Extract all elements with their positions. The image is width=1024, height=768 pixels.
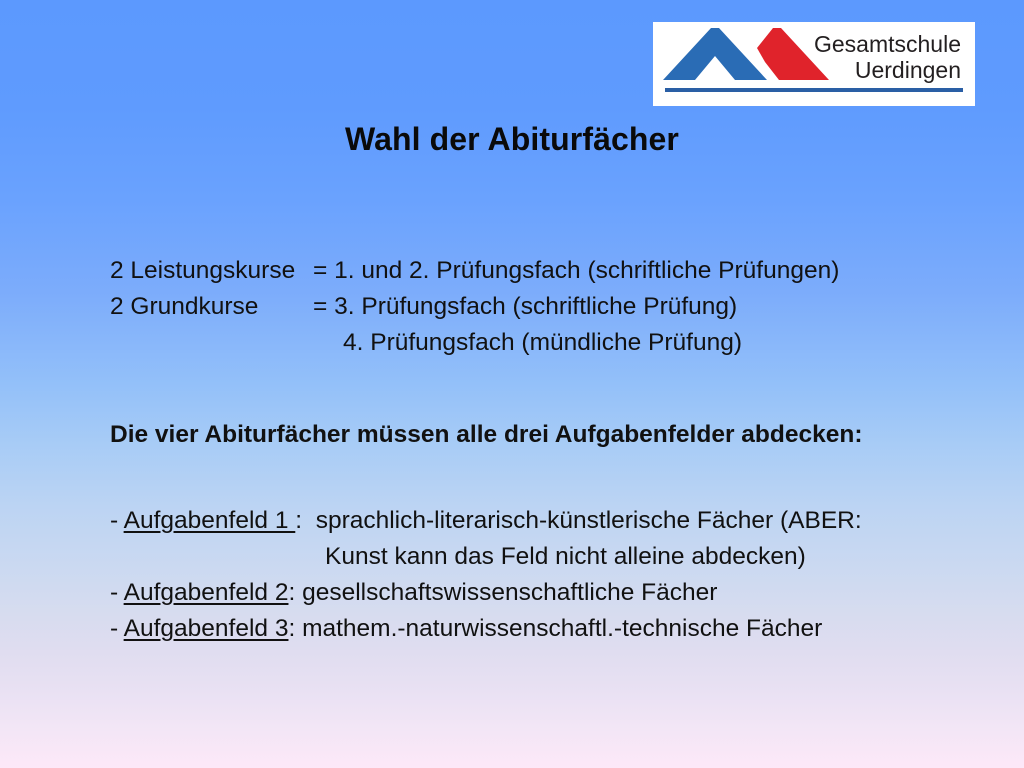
logo-wordmark: Gesamtschule Uerdingen — [814, 31, 961, 83]
course-row-right: = 3. Prüfungsfach (schriftliche Prüfung) — [313, 289, 970, 325]
requirement-statement: Die vier Abiturfächer müssen alle drei A… — [110, 417, 970, 453]
course-row-left: 2 Leistungskurse — [110, 253, 313, 289]
course-extra-row: 4. Prüfungsfach (mündliche Prüfung) — [110, 325, 970, 361]
aufgabenfeld-label: Aufgabenfeld 1 — [124, 507, 296, 534]
aufgabenfeld-separator: : — [295, 507, 315, 534]
aufgabenfeld-description: mathem.-naturwissenschaftl.-technische F… — [302, 615, 822, 642]
course-extra-text: 4. Prüfungsfach (mündliche Prüfung) — [343, 325, 742, 361]
logo-inner: Gesamtschule Uerdingen — [653, 22, 975, 106]
body-spacer — [110, 361, 970, 417]
course-row: 2 Grundkurse = 3. Prüfungsfach (schriftl… — [110, 289, 970, 325]
logo-wordmark-line2: Uerdingen — [814, 57, 961, 83]
requirement-colon: : — [854, 421, 862, 448]
aufgabenfeld-label: Aufgabenfeld 2 — [124, 579, 289, 606]
course-row-left: 2 Grundkurse — [110, 289, 313, 325]
slide-title: Wahl der Abiturfächer — [0, 121, 1024, 158]
aufgabenfeld-description: gesellschaftswissenschaftliche Fächer — [302, 579, 717, 606]
body-spacer — [110, 453, 970, 503]
bullet-dash: - — [110, 507, 124, 534]
course-row-right: = 1. und 2. Prüfungsfach (schriftliche P… — [313, 253, 970, 289]
aufgabenfeld-label: Aufgabenfeld 3 — [124, 615, 289, 642]
slide-body: 2 Leistungskurse = 1. und 2. Prüfungsfac… — [110, 253, 970, 647]
aufgabenfeld-continuation: Kunst kann das Feld nicht alleine abdeck… — [110, 539, 970, 575]
aufgabenfeld-description: sprachlich-literarisch-künstlerische Fäc… — [316, 507, 862, 534]
requirement-bold-text: Die vier Abiturfächer müssen alle drei A… — [110, 421, 854, 448]
bullet-dash: - — [110, 615, 124, 642]
school-logo: Gesamtschule Uerdingen — [653, 22, 975, 106]
bullet-dash: - — [110, 579, 124, 606]
mountain-peaks-icon — [661, 26, 836, 84]
aufgabenfeld-item: - Aufgabenfeld 1 : sprachlich-literarisc… — [110, 503, 970, 539]
aufgabenfeld-item: - Aufgabenfeld 3: mathem.-naturwissensch… — [110, 611, 970, 647]
aufgabenfeld-separator: : — [288, 579, 302, 606]
aufgabenfeld-separator: : — [288, 615, 302, 642]
logo-wordmark-line1: Gesamtschule — [814, 31, 961, 57]
aufgabenfeld-item: - Aufgabenfeld 2: gesellschaftswissensch… — [110, 575, 970, 611]
logo-divider-rule — [665, 88, 963, 92]
presentation-slide: Gesamtschule Uerdingen Wahl der Abiturfä… — [0, 0, 1024, 768]
course-row: 2 Leistungskurse = 1. und 2. Prüfungsfac… — [110, 253, 970, 289]
